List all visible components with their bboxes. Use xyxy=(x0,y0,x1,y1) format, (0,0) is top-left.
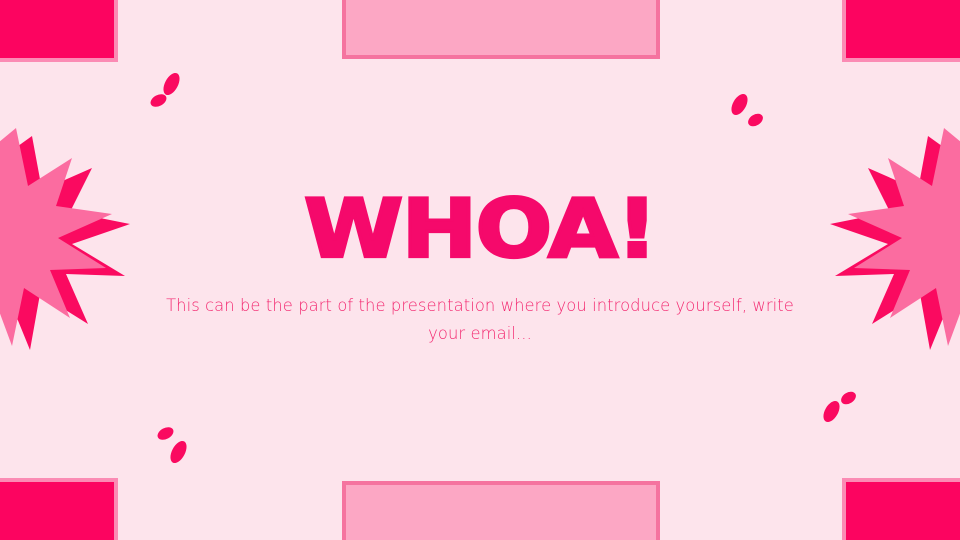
slide-text-area: WHOA! This can be the part of the presen… xyxy=(0,0,960,540)
slide-title: WHOA! xyxy=(304,189,656,270)
presentation-slide: WHOA! This can be the part of the presen… xyxy=(0,0,960,540)
slide-subtitle: This can be the part of the presentation… xyxy=(163,293,797,348)
